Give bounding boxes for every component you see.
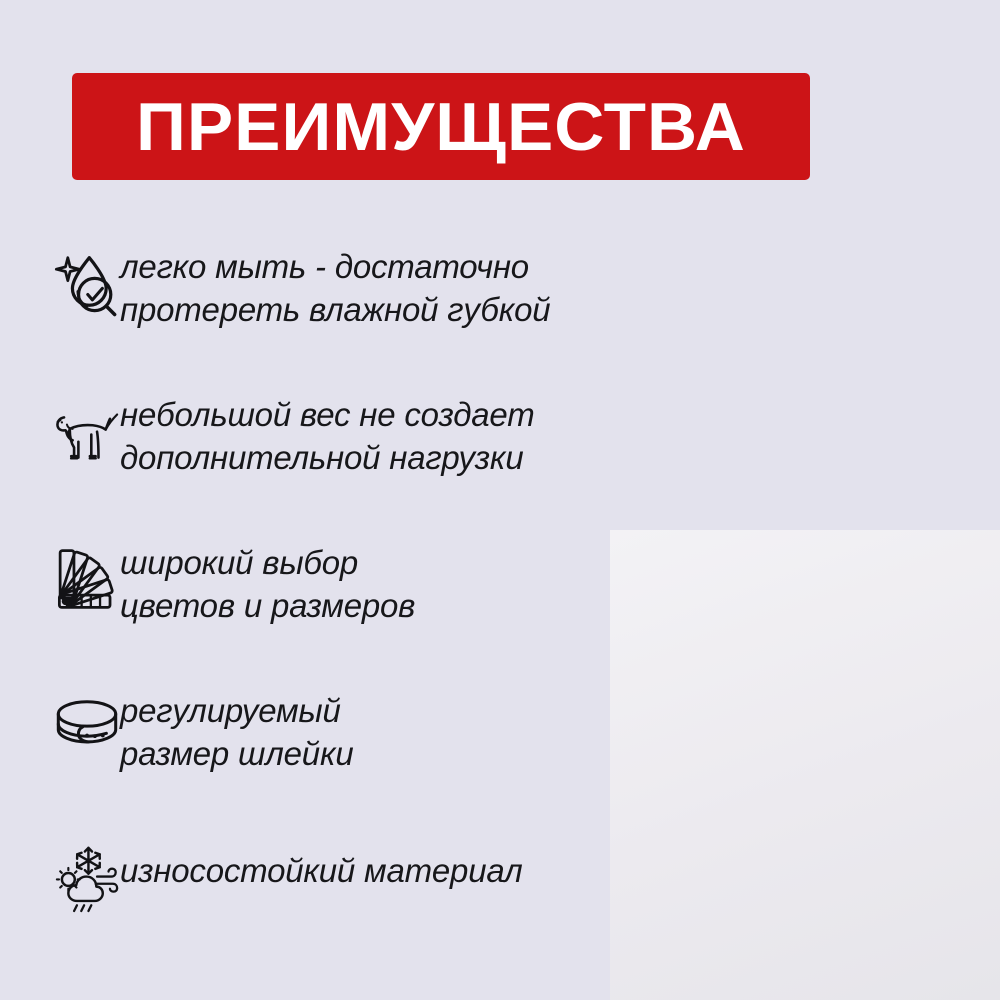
- feature-label: широкий выбор цветов и размеров: [120, 528, 415, 627]
- feature-row: небольшой вес не создает дополнительной …: [0, 380, 1000, 528]
- advantages-list: легко мыть - достаточно протереть влажно…: [0, 232, 1000, 972]
- feature-row: регулируемый размер шлейки: [0, 676, 1000, 824]
- feature-label: небольшой вес не создает дополнительной …: [120, 380, 534, 479]
- dog-on-leash-icon: [0, 380, 120, 474]
- weather-snowflake-sun-wind-rain-icon: [0, 824, 120, 924]
- feature-label: регулируемый размер шлейки: [120, 676, 354, 775]
- advantages-banner: ПРЕИМУЩЕСТВА: [72, 73, 810, 180]
- feature-row: широкий выбор цветов и размеров: [0, 528, 1000, 676]
- feature-label: легко мыть - достаточно протереть влажно…: [120, 232, 550, 331]
- water-drop-sparkle-magnifier-check-icon: [0, 232, 120, 326]
- feature-row: легко мыть - достаточно протереть влажно…: [0, 232, 1000, 380]
- page-title: ПРЕИМУЩЕСТВА: [136, 93, 746, 161]
- color-swatch-fan-icon: [0, 528, 120, 622]
- adjustable-collar-icon: [0, 676, 120, 764]
- feature-label: износостойкий материал: [120, 824, 523, 893]
- feature-row: износостойкий материал: [0, 824, 1000, 972]
